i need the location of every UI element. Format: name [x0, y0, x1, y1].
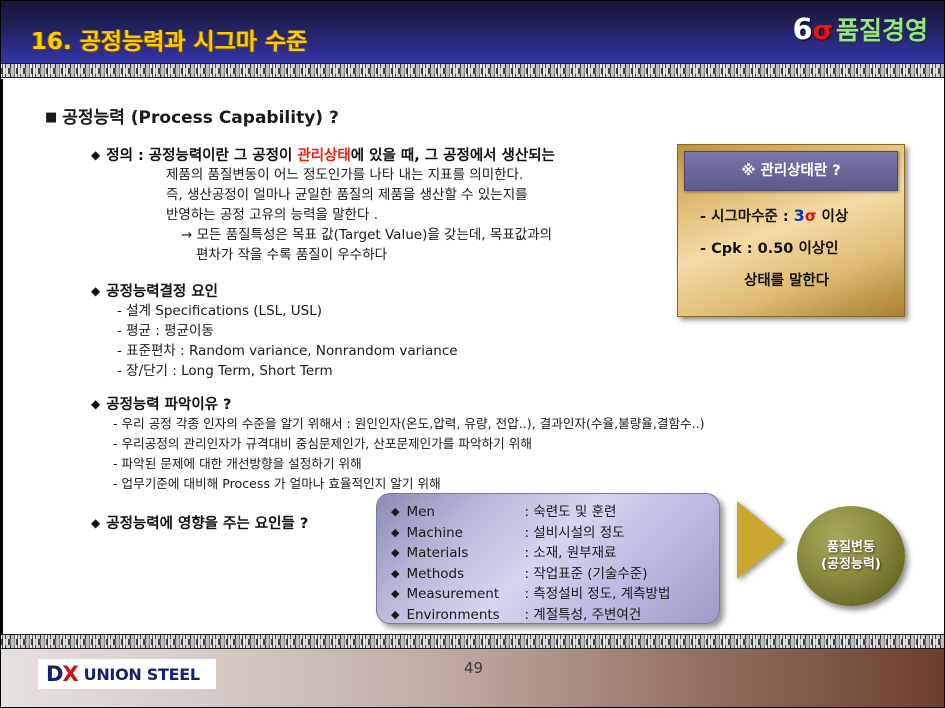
- six-m-row: ◆Materials: 소재, 원부재료: [391, 543, 719, 564]
- factors-title: 공정능력결정 요인: [106, 284, 218, 300]
- reasons-title: 공정능력 파악이유 ?: [106, 397, 231, 413]
- page-number: 49: [1, 659, 945, 677]
- diamond-bullet-icon: ◆: [391, 567, 399, 580]
- control-state-line-2: - Cpk : 0.50 이상인: [700, 237, 838, 258]
- diamond-bullet-icon: ◆: [91, 148, 100, 162]
- six-m-row: ◆Machine: 설비시설의 정도: [391, 523, 719, 544]
- brand-six-glyph: 6: [793, 12, 813, 46]
- diamond-bullet-icon: ◆: [391, 608, 399, 621]
- six-m-label: Men: [406, 503, 524, 523]
- six-m-value: : 소재, 원부재료: [524, 545, 616, 561]
- six-m-value: : 숙련도 및 훈련: [524, 504, 616, 520]
- greek-key-border-bottom: [1, 634, 945, 649]
- diamond-bullet-icon: ◆: [91, 516, 100, 530]
- quality-variation-circle: 품질변동 (공정능력): [797, 506, 905, 606]
- sigma-glyph-icon: σ: [805, 207, 817, 225]
- six-m-row: ◆Men: 숙련도 및 훈련: [391, 502, 719, 523]
- diamond-bullet-icon: ◆: [391, 546, 399, 559]
- reasons-item-4: - 업무기준에 대비해 Process 가 얼마나 효율적인지 알기 위해: [113, 474, 441, 493]
- control-state-box: ※ 관리상태란 ? - 시그마수준 : 3σ 이상 - Cpk : 0.50 이…: [677, 144, 905, 317]
- reasons-item-3: - 파악된 문제에 대한 개선방향을 설정하기 위해: [113, 454, 362, 473]
- brand-sigma-glyph: σ: [813, 16, 833, 46]
- six-m-value: : 설비시설의 정도: [524, 525, 624, 541]
- brand-korean-label: 품질경영: [836, 16, 928, 45]
- reasons-bullet: ◆공정능력 파악이유 ?: [91, 393, 231, 414]
- six-m-label: Machine: [406, 524, 524, 544]
- six-m-label: Materials: [406, 544, 524, 564]
- definition-line-6: 편차가 작을 수록 품질이 우수하다: [196, 245, 387, 265]
- diamond-bullet-icon: ◆: [391, 587, 399, 600]
- slide-header: 16. 공정능력과 시그마 수준 6σ품질경영: [1, 1, 945, 63]
- factors-item-3: - 표준편차 : Random variance, Nonrandom vari…: [117, 341, 458, 361]
- greek-key-border-top: [1, 63, 945, 78]
- six-m-label: Environments: [406, 606, 524, 626]
- influences-bullet: ◆공정능력에 영향을 주는 요인들 ?: [91, 512, 308, 533]
- quality-circle-line-1: 품질변동: [827, 539, 875, 556]
- factors-item-2: - 평균 : 평균이동: [117, 321, 214, 341]
- six-m-label: Measurement: [406, 585, 524, 605]
- definition-line-4: 반영하는 공정 고유의 능력을 말한다 .: [166, 205, 378, 225]
- reasons-item-1: - 우리 공정 각종 인자의 수준을 알기 위해서 : 원인인자(온도,압력, …: [113, 414, 705, 433]
- section-heading-label: 공정능력 (Process Capability) ?: [62, 108, 339, 128]
- right-arrow-icon: [737, 501, 785, 579]
- factors-bullet: ◆공정능력결정 요인: [91, 280, 218, 301]
- factors-item-1: - 설계 Specifications (LSL, USL): [117, 301, 322, 321]
- definition-line-5: → 모든 품질특성은 목표 값(Target Value)을 갖는데, 목표값과…: [181, 225, 552, 245]
- definition-bullet: ◆정의 : 공정능력이란 그 공정이 관리상태에 있을 때, 그 공정에서 생산…: [91, 144, 555, 165]
- six-m-value: : 측정설비 정도, 계측방법: [524, 586, 670, 602]
- six-m-label: Methods: [406, 565, 524, 585]
- definition-line-3: 즉, 생산공정이 얼마나 균일한 품질의 제품을 생산할 수 있는지를: [166, 185, 528, 205]
- control-state-line-3: 상태를 말한다: [744, 269, 829, 290]
- six-m-value: : 작업표준 (기술수준): [524, 566, 647, 582]
- factors-item-4: - 장/단기 : Long Term, Short Term: [117, 361, 333, 381]
- quality-circle-line-2: (공정능력): [821, 556, 881, 573]
- section-heading: ■공정능력 (Process Capability) ?: [45, 103, 339, 128]
- influences-title: 공정능력에 영향을 주는 요인들 ?: [106, 516, 308, 532]
- six-m-value: : 계절특성, 주변여건: [524, 607, 641, 623]
- definition-line-2: 제품의 품질변동이 어느 정도인가를 나타 내는 지표를 의미한다.: [166, 165, 523, 185]
- slide: 16. 공정능력과 시그마 수준 6σ품질경영 ■공정능력 (Process C…: [0, 0, 945, 708]
- diamond-bullet-icon: ◆: [391, 505, 399, 518]
- brand-six-sigma: 6σ품질경영: [793, 15, 928, 44]
- diamond-bullet-icon: ◆: [91, 284, 100, 298]
- sigma-level-value: 3: [794, 206, 805, 225]
- slide-footer: DX UNION STEEL 49: [1, 649, 945, 708]
- definition-line-1: 정의 : 공정능력이란 그 공정이 관리상태에 있을 때, 그 공정에서 생산되…: [106, 148, 555, 164]
- control-state-box-header: ※ 관리상태란 ?: [684, 151, 898, 191]
- six-m-row: ◆Measurement: 측정설비 정도, 계측방법: [391, 584, 719, 605]
- definition-highlight: 관리상태: [297, 148, 350, 164]
- diamond-bullet-icon: ◆: [391, 526, 399, 539]
- reasons-item-2: - 우리공정의 관리인자가 규격대비 중심문제인가, 산포문제인가를 파악하기 …: [113, 434, 532, 453]
- page-title: 16. 공정능력과 시그마 수준: [31, 22, 307, 56]
- control-state-line-1: - 시그마수준 : 3σ 이상: [700, 205, 848, 226]
- six-m-row: ◆Environments: 계절특성, 주변여건: [391, 605, 719, 626]
- six-m-factors-box: ◆Men: 숙련도 및 훈련 ◆Machine: 설비시설의 정도 ◆Mater…: [376, 493, 720, 624]
- diamond-bullet-icon: ◆: [91, 397, 100, 411]
- six-m-row: ◆Methods: 작업표준 (기술수준): [391, 564, 719, 585]
- square-bullet-icon: ■: [45, 110, 57, 125]
